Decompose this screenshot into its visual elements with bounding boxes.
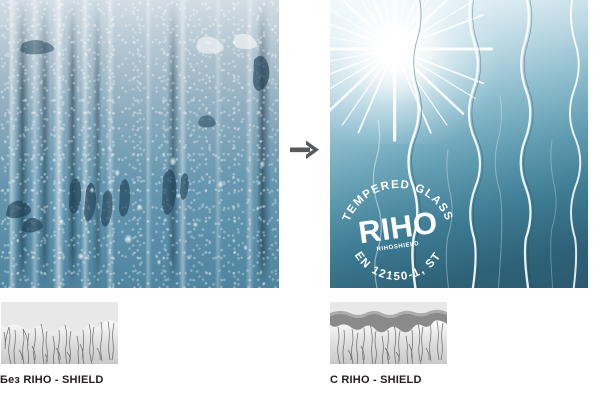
before-photo	[0, 0, 279, 288]
arrow-right-icon	[288, 134, 322, 166]
after-surface-diagram	[330, 302, 447, 364]
after-caption: С RIHO - SHIELD	[330, 374, 422, 386]
arc-bottom-text: EN 12150-1, ST	[352, 250, 444, 283]
riho-shield-watermark: TEMPERED GLASS EN 12150-1, ST RIHO RIHOS…	[336, 168, 460, 286]
after-photo: TEMPERED GLASS EN 12150-1, ST RIHO RIHOS…	[330, 0, 588, 288]
before-caption: Без RIHO - SHIELD	[0, 374, 104, 386]
before-photo-droplet-layer	[0, 0, 279, 288]
before-surface-diagram	[1, 302, 118, 364]
svg-text:EN 12150-1, ST: EN 12150-1, ST	[352, 250, 444, 283]
